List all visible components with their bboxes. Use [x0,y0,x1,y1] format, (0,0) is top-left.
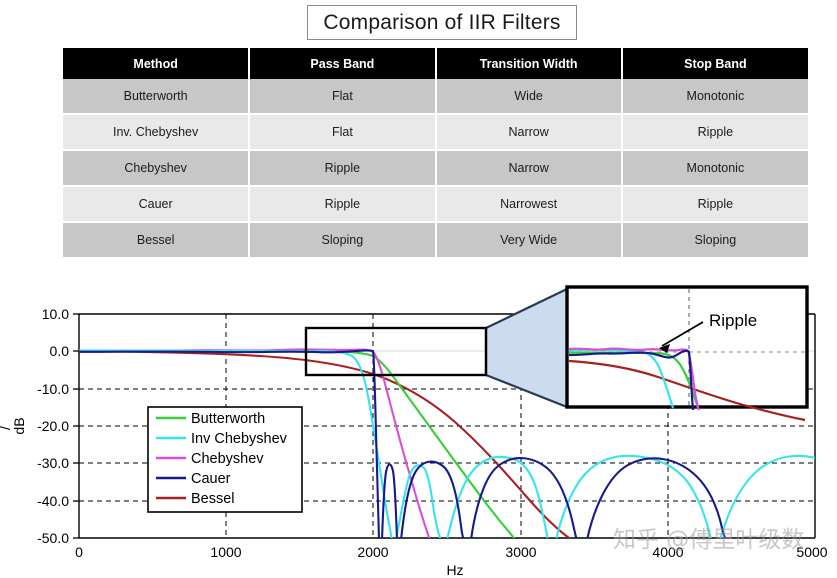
table-row: Inv. Chebyshev Flat Narrow Ripple [63,114,808,150]
cell-stop-band: Monotonic [622,150,808,186]
page-title-box: Comparison of IIR Filters [307,5,577,40]
iir-comparison-table: Method Pass Band Transition Width Stop B… [63,48,808,259]
legend-label-inv-chebyshev: Inv Chebyshev [191,431,288,447]
cell-pass-band: Flat [249,79,435,114]
cell-method: Butterworth [63,79,249,114]
frequency-response-chart: 10.0 0.0 -10.0 -20.0 -30.0 -40.0 -50.0 d… [0,262,837,578]
y-tick-label: 0.0 [50,343,70,359]
page-title: Comparison of IIR Filters [323,11,560,35]
table-header-row: Method Pass Band Transition Width Stop B… [63,48,808,79]
y-tick-label: -10.0 [37,381,69,397]
chart-legend: Butterworth Inv Chebyshev Chebyshev Caue… [148,407,302,512]
x-tick-label: 0 [75,544,83,560]
cell-pass-band: Ripple [249,150,435,186]
y-tick-label: -50.0 [37,530,69,546]
watermark-text: 知乎 @傅里叶级数 [613,527,804,553]
table-row: Cauer Ripple Narrowest Ripple [63,186,808,222]
cell-pass-band: Flat [249,114,435,150]
x-axis-title: Hz [446,562,463,578]
cell-stop-band: Sloping [622,222,808,258]
cell-method: Cauer [63,186,249,222]
y-tick-label: 10.0 [42,306,69,322]
zoom-inset-panel: Ripple [567,287,807,420]
cell-transition: Wide [436,79,622,114]
x-tick-label: 3000 [505,544,536,560]
x-tick-label: 1000 [210,544,241,560]
column-header-stop-band: Stop Band [622,48,808,79]
table-row: Bessel Sloping Very Wide Sloping [63,222,808,258]
cell-stop-band: Monotonic [622,79,808,114]
y-axis-title-clipped-glyph: / [0,426,13,430]
table-row: Chebyshev Ripple Narrow Monotonic [63,150,808,186]
y-tick-marks [73,314,79,538]
x-tick-label: 2000 [357,544,388,560]
cell-method: Inv. Chebyshev [63,114,249,150]
legend-label-butterworth: Butterworth [191,411,265,427]
legend-label-chebyshev: Chebyshev [191,451,264,467]
ripple-annotation-label: Ripple [709,311,757,330]
cell-transition: Very Wide [436,222,622,258]
cell-transition: Narrow [436,114,622,150]
column-header-transition-width: Transition Width [436,48,622,79]
cell-stop-band: Ripple [622,186,808,222]
cell-method: Chebyshev [63,150,249,186]
cell-transition: Narrowest [436,186,622,222]
table-row: Butterworth Flat Wide Monotonic [63,79,808,114]
cell-pass-band: Sloping [249,222,435,258]
cell-method: Bessel [63,222,249,258]
cell-stop-band: Ripple [622,114,808,150]
y-tick-label: -40.0 [37,493,69,509]
column-header-method: Method [63,48,249,79]
y-axis-tick-labels: 10.0 0.0 -10.0 -20.0 -30.0 -40.0 -50.0 [37,306,69,546]
cell-transition: Narrow [436,150,622,186]
chart-svg: 10.0 0.0 -10.0 -20.0 -30.0 -40.0 -50.0 d… [0,262,837,578]
y-tick-label: -30.0 [37,455,69,471]
legend-label-cauer: Cauer [191,471,231,487]
column-header-pass-band: Pass Band [249,48,435,79]
y-tick-label: -20.0 [37,418,69,434]
cell-pass-band: Ripple [249,186,435,222]
y-axis-title: dB [11,417,27,434]
legend-label-bessel: Bessel [191,491,235,507]
